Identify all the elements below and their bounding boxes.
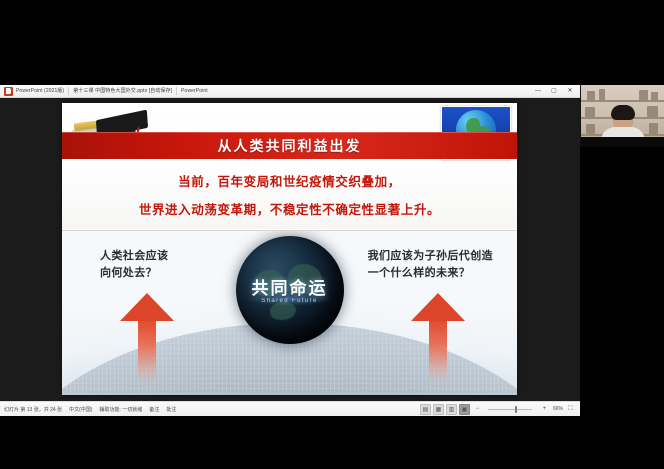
notes-button[interactable]: 备注 <box>149 406 159 413</box>
view-reading-icon[interactable]: ▥ <box>446 404 457 415</box>
letterbox-right <box>580 147 664 416</box>
arrow-head <box>411 293 465 321</box>
minimize-button[interactable]: — <box>530 85 546 97</box>
up-arrow-right-icon <box>411 293 465 383</box>
zoom-slider-handle[interactable] <box>515 406 517 413</box>
letterbox-top <box>0 0 664 85</box>
slide-lead-text: 当前，百年变局和世纪疫情交织叠加， 世界进入动荡变革期，不稳定性不确定性显著上升… <box>62 159 517 229</box>
shared-powerpoint-window: PowerPoint (2021版) 第十三课 中国特色大国外交.pptx [自… <box>0 85 580 416</box>
shelf-object <box>587 91 595 100</box>
view-slideshow-icon[interactable]: ▣ <box>459 404 470 415</box>
shelf-object <box>639 90 648 100</box>
letterbox-bottom <box>0 416 664 469</box>
titlebar-separator <box>176 87 177 95</box>
zoom-out-button[interactable]: − <box>472 404 483 415</box>
zoom-level[interactable]: 66% <box>553 406 563 412</box>
shelf-object <box>647 106 658 117</box>
slide[interactable]: 从人类共同利益出发 当前，百年变局和世纪疫情交织叠加， 世界进入动荡变革期，不稳… <box>62 103 517 395</box>
fit-to-window-icon[interactable]: ⛶ <box>565 404 576 415</box>
accessibility-status[interactable]: 辅助功能: 一切就绪 <box>99 406 142 413</box>
powerpoint-icon <box>4 87 13 96</box>
arrow-head <box>120 293 174 321</box>
window-titlebar: PowerPoint (2021版) 第十三课 中国特色大国外交.pptx [自… <box>0 85 580 98</box>
language-indicator[interactable]: 中文(中国) <box>69 406 92 413</box>
presenter-camera-tile[interactable] <box>580 85 664 147</box>
up-arrow-left-icon <box>120 293 174 383</box>
zoom-slider[interactable] <box>488 409 532 410</box>
lead-line-2: 世界进入动荡变革期，不稳定性不确定性显著上升。 <box>139 199 440 218</box>
video-call-screen-share: PowerPoint (2021版) 第十三课 中国特色大国外交.pptx [自… <box>0 0 664 469</box>
comments-button[interactable]: 批注 <box>166 406 176 413</box>
shared-future-globe-image: 共同命运 Shared Future <box>236 236 344 344</box>
titlebar-app-suffix: PowerPoint <box>181 85 208 98</box>
presenter-hair <box>611 105 635 120</box>
slide-title-banner: 从人类共同利益出发 <box>62 132 517 159</box>
slide-header-area: 从人类共同利益出发 当前，百年变局和世纪疫情交织叠加， 世界进入动荡变革期，不稳… <box>62 103 517 229</box>
presentation-canvas: 从人类共同利益出发 当前，百年变局和世纪疫情交织叠加， 世界进入动荡变革期，不稳… <box>0 98 580 401</box>
maximize-button[interactable]: ▢ <box>546 85 562 97</box>
lead-line-1: 当前，百年变局和世纪疫情交织叠加， <box>178 171 401 190</box>
zoom-in-button[interactable]: + <box>539 404 550 415</box>
slide-body-area: 人类社会应该 向何处去？ 我们应该为子孙后代创造 一个什么样的未来？ 共同命运 … <box>62 231 517 395</box>
arrow-shaft <box>138 319 156 383</box>
camera-tile-footer <box>581 137 664 147</box>
slide-counter: 幻灯片 第 13 张，共 24 张 <box>4 406 62 413</box>
shelf-object <box>599 89 605 100</box>
arrow-shaft <box>429 319 447 383</box>
slide-title: 从人类共同利益出发 <box>218 136 362 156</box>
titlebar-document-name: 第十三课 中国特色大国外交.pptx [自动保存] <box>73 85 172 98</box>
shelf-object <box>651 92 658 100</box>
powerpoint-status-bar: 幻灯片 第 13 张，共 24 张 中文(中国) 辅助功能: 一切就绪 备注 批… <box>0 401 580 416</box>
titlebar-separator <box>68 87 69 95</box>
shelf-object <box>586 124 595 134</box>
globe-headline: 共同命运 <box>236 274 344 299</box>
globe-subtitle: Shared Future <box>236 298 344 304</box>
question-right: 我们应该为子孙后代创造 一个什么样的未来？ <box>368 247 493 281</box>
titlebar-app-name: PowerPoint (2021版) <box>16 85 64 98</box>
shelf-object <box>585 107 595 117</box>
close-button[interactable]: ✕ <box>562 85 578 97</box>
view-slide-sorter-icon[interactable]: ▦ <box>433 404 444 415</box>
shelf-object <box>649 123 658 134</box>
question-left: 人类社会应该 向何处去？ <box>100 247 168 281</box>
view-normal-icon[interactable]: ▤ <box>420 404 431 415</box>
shelf-line <box>581 100 664 102</box>
